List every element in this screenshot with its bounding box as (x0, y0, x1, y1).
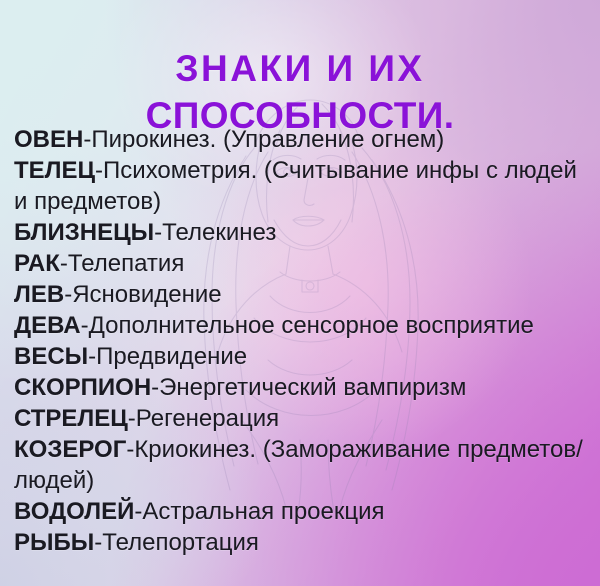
zodiac-entry: ВОДОЛЕЙ-Астральная проекция (14, 496, 589, 527)
zodiac-sign-name: ТЕЛЕЦ (14, 157, 95, 184)
zodiac-sign-name: ЛЕВ (14, 281, 64, 308)
zodiac-sign-name: СКОРПИОН (14, 374, 151, 401)
zodiac-separator: - (128, 405, 136, 432)
zodiac-entry: ОВЕН-Пирокинез. (Управление огнем) (14, 124, 589, 155)
zodiac-entry: СТРЕЛЕЦ-Регенерация (14, 403, 589, 434)
zodiac-ability-text: Пирокинез. (Управление огнем) (91, 126, 444, 153)
zodiac-ability-text: Регенерация (136, 405, 279, 432)
zodiac-sign-name: БЛИЗНЕЦЫ (14, 219, 154, 246)
zodiac-sign-name: ВОДОЛЕЙ (14, 498, 134, 525)
zodiac-sign-name: СТРЕЛЕЦ (14, 405, 128, 432)
zodiac-ability-list: ОВЕН-Пирокинез. (Управление огнем)ТЕЛЕЦ-… (14, 124, 589, 558)
zodiac-abilities-poster: ЗНАКИ И ИХ СПОСОБНОСТИ. ОВЕН-Пирокинез. … (0, 0, 600, 586)
zodiac-entry: ДЕВА-Дополнительное сенсорное восприятие (14, 310, 589, 341)
zodiac-separator: - (88, 343, 96, 370)
zodiac-ability-text: Телекинез (162, 219, 276, 246)
zodiac-separator: - (64, 281, 72, 308)
zodiac-ability-text: Телепортация (102, 529, 259, 556)
zodiac-entry: ВЕСЫ-Предвидение (14, 341, 589, 372)
zodiac-ability-text: Телепатия (68, 250, 184, 277)
zodiac-ability-text: Предвидение (96, 343, 247, 370)
zodiac-separator: - (154, 219, 162, 246)
zodiac-separator: - (81, 312, 89, 339)
zodiac-ability-text: Астральная проекция (142, 498, 384, 525)
zodiac-sign-name: РАК (14, 250, 60, 277)
zodiac-ability-text: Энергетический вампиризм (159, 374, 466, 401)
zodiac-ability-text: Дополнительное сенсорное восприятие (89, 312, 534, 339)
zodiac-sign-name: ВЕСЫ (14, 343, 88, 370)
zodiac-sign-name: КОЗЕРОГ (14, 436, 126, 463)
title-line-1: ЗНАКИ И ИХ (0, 45, 600, 92)
zodiac-entry: ЛЕВ-Ясновидение (14, 279, 589, 310)
zodiac-entry: РАК-Телепатия (14, 248, 589, 279)
zodiac-sign-name: РЫБЫ (14, 529, 94, 556)
zodiac-separator: - (151, 374, 159, 401)
zodiac-ability-text: Ясновидение (72, 281, 221, 308)
zodiac-sign-name: ОВЕН (14, 126, 83, 153)
zodiac-separator: - (95, 157, 103, 184)
zodiac-entry: ТЕЛЕЦ-Психометрия. (Считывание инфы с лю… (14, 155, 589, 217)
zodiac-entry: РЫБЫ-Телепортация (14, 527, 589, 558)
zodiac-entry: БЛИЗНЕЦЫ-Телекинез (14, 217, 589, 248)
zodiac-entry: КОЗЕРОГ-Криокинез. (Замораживание предме… (14, 434, 589, 496)
zodiac-entry: СКОРПИОН-Энергетический вампиризм (14, 372, 589, 403)
zodiac-separator: - (60, 250, 68, 277)
zodiac-sign-name: ДЕВА (14, 312, 81, 339)
